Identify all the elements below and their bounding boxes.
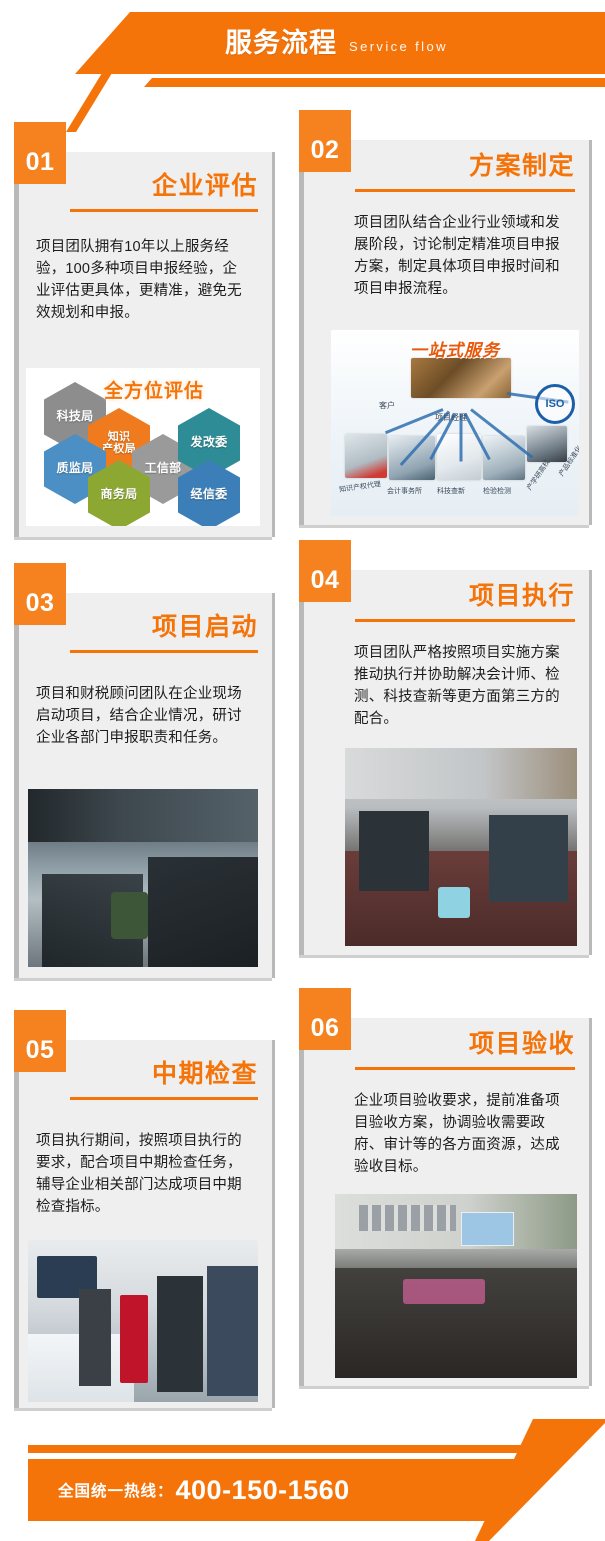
step-number-badge: 05 <box>14 1010 66 1072</box>
step-title: 企业评估 <box>70 166 258 202</box>
step-number-badge: 01 <box>14 122 66 184</box>
hotline-number[interactable]: 400-150-1560 <box>176 1475 350 1506</box>
step-number-badge: 04 <box>299 540 351 602</box>
step-title: 中期检查 <box>70 1054 258 1090</box>
step-title: 方案制定 <box>355 146 575 182</box>
page-header: 服务流程 Service flow <box>0 0 605 105</box>
title-underline <box>355 1067 575 1070</box>
title-underline <box>355 189 575 192</box>
team-photo-node <box>411 358 511 398</box>
photo-working-session <box>345 748 577 946</box>
step-description: 项目团队拥有10年以上服务经验，100多种项目申报经验，企业评估更具体，更精准，… <box>36 236 250 324</box>
step-number-badge: 02 <box>299 110 351 172</box>
step-description: 项目和财税顾问团队在企业现场启动项目，结合企业情况，研讨企业各部门申报职责和任务… <box>36 683 250 749</box>
step-card-03: 03 项目启动 项目和财税顾问团队在企业现场启动项目，结合企业情况，研讨企业各部… <box>14 593 272 978</box>
hotline-group: 全国统一热线： 400-150-1560 <box>28 1459 605 1521</box>
card-left-rail <box>14 625 19 978</box>
all-round-assessment-chart: 全方位评估 科技局 知识 产权局 质监局 工信部 商务局 发改委 经信委 <box>26 368 260 526</box>
label-tech-search: 科技查新 <box>437 486 465 496</box>
header-title-group: 服务流程 Service flow <box>0 12 605 74</box>
title-underline <box>70 1097 258 1100</box>
step-title: 项目执行 <box>355 576 575 612</box>
card-left-rail <box>299 1050 304 1386</box>
iso-seal-icon: ISO <box>535 384 575 424</box>
step-card-05: 05 中期检查 项目执行期间，按照项目执行的要求，配合项目中期检查任务，辅导企业… <box>14 1040 272 1408</box>
page-subtitle: Service flow <box>349 39 448 54</box>
step-description: 项目团队结合企业行业领域和发展阶段，讨论制定精准项目申报方案，制定具体项目申报时… <box>354 212 566 300</box>
card-left-rail <box>299 172 304 525</box>
step-number-badge: 03 <box>14 563 66 625</box>
label-accounting: 会计事务所 <box>387 486 422 496</box>
card-left-rail <box>299 602 304 955</box>
hotline-label: 全国统一热线： <box>58 1479 174 1501</box>
label-customer: 客户 <box>379 400 395 411</box>
step-card-04: 04 项目执行 项目团队严格按照项目实施方案推动执行并协助解决会计师、检测、科技… <box>299 570 589 955</box>
step-title: 项目验收 <box>355 1024 575 1060</box>
node-accounting <box>389 436 435 480</box>
card-left-rail <box>14 184 19 537</box>
footer-accent-stripe <box>28 1445 605 1453</box>
label-ip-agency: 知识产权代理 <box>339 479 382 495</box>
title-underline <box>70 650 258 653</box>
title-underline <box>70 209 258 212</box>
step-title: 项目启动 <box>70 607 258 643</box>
diagram-title: 一站式服务 <box>410 336 500 361</box>
label-inspection: 检验检测 <box>483 486 511 496</box>
node-ip-agency <box>345 434 387 478</box>
header-accent-stripe <box>0 78 605 87</box>
photo-site-visit <box>28 1240 258 1402</box>
step-description: 企业项目验收要求，提前准备项目验收方案，协调验收需要政府、审计等的各方面资源，达… <box>354 1090 566 1178</box>
label-university: 产学研高校 <box>525 458 553 493</box>
step-card-06: 06 项目验收 企业项目验收要求，提前准备项目验收方案，协调验收需要政府、审计等… <box>299 1018 589 1386</box>
step-description: 项目执行期间，按照项目执行的要求，配合项目中期检查任务，辅导企业相关部门达成项目… <box>36 1130 250 1218</box>
page-footer: 全国统一热线： 400-150-1560 <box>0 1423 605 1538</box>
step-card-01: 01 企业评估 项目团队拥有10年以上服务经验，100多种项目申报经验，企业评估… <box>14 152 272 537</box>
photo-conference-hall <box>335 1194 577 1378</box>
label-project-mgr: 项目经理 <box>435 412 467 423</box>
page-title: 服务流程 <box>225 30 337 57</box>
chart-title: 全方位评估 <box>104 376 204 403</box>
step-number-badge: 06 <box>299 988 351 1050</box>
step-card-02: 02 方案制定 项目团队结合企业行业领域和发展阶段，讨论制定精准项目申报方案，制… <box>299 140 589 525</box>
step-description: 项目团队严格按照项目实施方案推动执行并协助解决会计师、检测、科技查新等更方面第三… <box>354 642 566 730</box>
title-underline <box>355 619 575 622</box>
card-left-rail <box>14 1072 19 1408</box>
one-stop-service-diagram: 一站式服务 客户 项目经理 ISO 知识产权代理 会计事务所 科技查新 检验检测… <box>331 330 579 516</box>
photo-meeting-room <box>28 789 258 967</box>
